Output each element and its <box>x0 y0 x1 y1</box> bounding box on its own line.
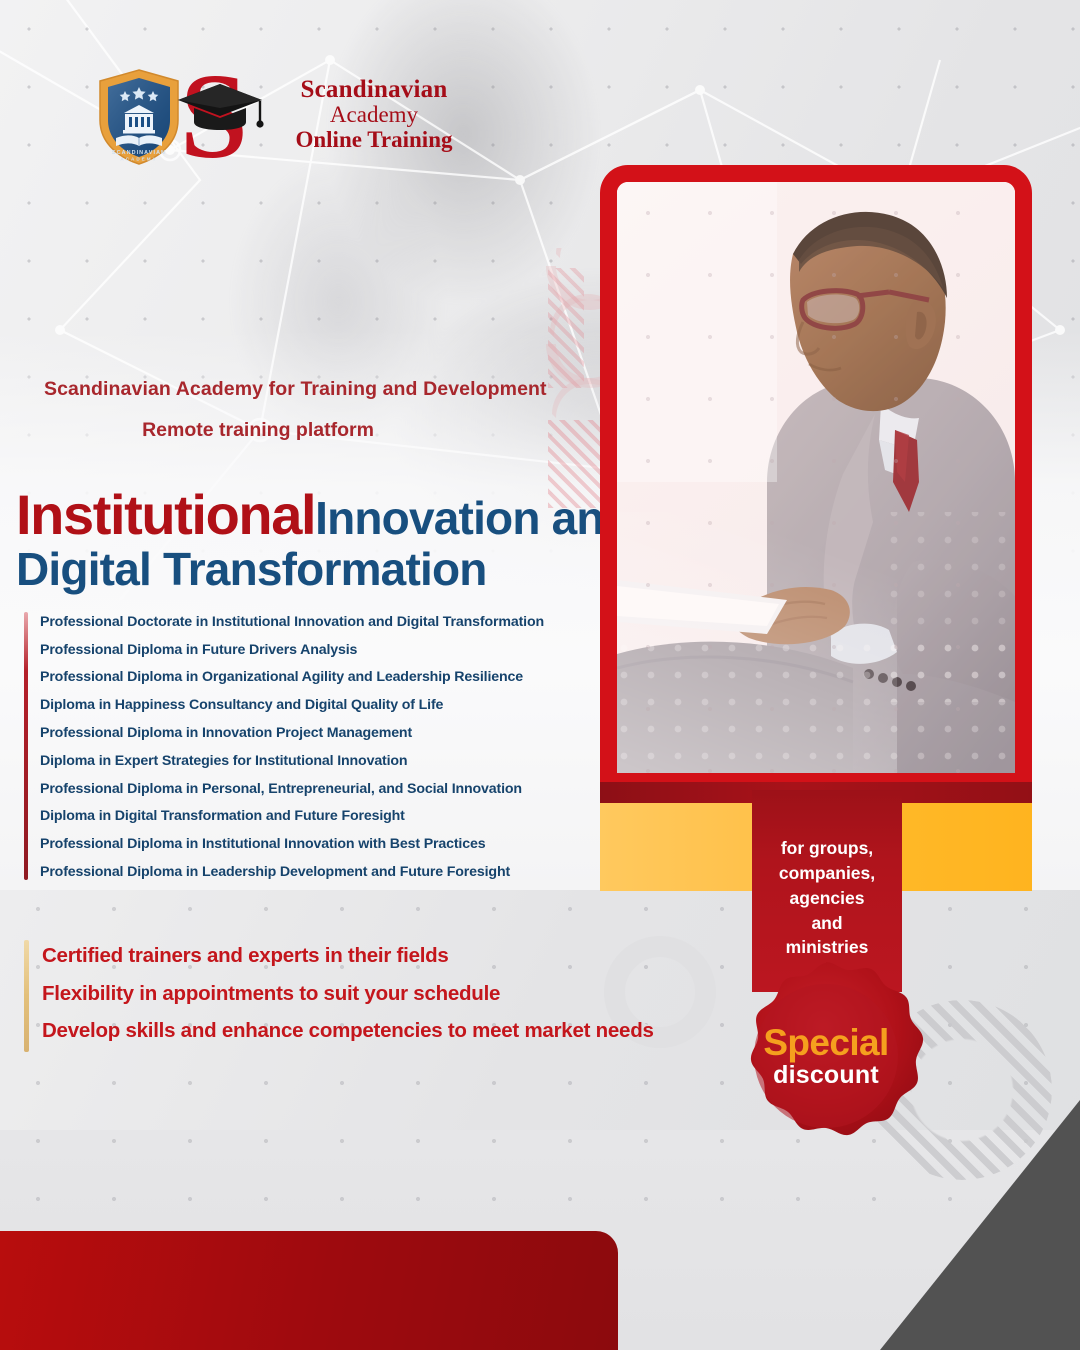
title-rest-line-1: Innovation and <box>315 492 631 544</box>
brand-line-1: Scandinavian <box>254 76 494 103</box>
badge-text-group: Special discount <box>712 958 940 1154</box>
brand-line-3: Online Training <box>254 128 494 153</box>
shield-bottom-label: ACADEMY <box>120 157 157 162</box>
list-item[interactable]: Diploma in Happiness Consultancy and Dig… <box>40 691 604 719</box>
audience-text: for groups, companies, agencies and mini… <box>752 836 902 960</box>
subtitle-line-2: Remote training platform <box>44 419 584 442</box>
list-item[interactable]: Professional Diploma in Organizational A… <box>40 664 604 692</box>
hero-photo-frame <box>600 165 1032 790</box>
special-discount-badge[interactable]: Special discount <box>712 958 940 1154</box>
list-item: Flexibility in appointments to suit your… <box>42 976 684 1014</box>
course-list: Professional Doctorate in Institutional … <box>24 608 604 886</box>
organization-subtitle: Scandinavian Academy for Training and De… <box>44 378 584 442</box>
badge-line-1: Special <box>763 1024 888 1061</box>
title-line-2: Digital Transformation <box>16 547 616 592</box>
list-item[interactable]: Professional Diploma in Leadership Devel… <box>40 858 604 886</box>
promotional-poster: SCANDINAVIAN ACADEMY S Scandinavian Acad… <box>0 0 1080 1350</box>
shield-emblem-icon: SCANDINAVIAN ACADEMY <box>96 68 182 166</box>
graduation-cap-icon <box>174 82 266 132</box>
list-item[interactable]: Professional Doctorate in Institutional … <box>40 608 604 636</box>
list-item: Develop skills and enhance competencies … <box>42 1013 684 1051</box>
list-item[interactable]: Professional Diploma in Innovation Proje… <box>40 719 604 747</box>
title-line-1: InstitutionalInnovation and <box>16 488 616 543</box>
brand-logo: SCANDINAVIAN ACADEMY S Scandinavian Acad… <box>96 46 416 166</box>
title-line-2-text: Digital Transformation <box>16 543 487 595</box>
orange-band-right <box>900 803 1032 891</box>
shield-top-label: SCANDINAVIAN <box>112 150 166 156</box>
brand-wordmark: Scandinavian Academy Online Training <box>254 76 494 153</box>
badge-line-2: discount <box>773 1063 879 1088</box>
list-item[interactable]: Professional Diploma in Personal, Entrep… <box>40 775 604 803</box>
list-item[interactable]: Professional Diploma in Institutional In… <box>40 830 604 858</box>
benefits-list: Certified trainers and experts in their … <box>24 938 684 1051</box>
orange-band-left <box>600 803 760 891</box>
subtitle-line-1: Scandinavian Academy for Training and De… <box>44 378 584 401</box>
list-item[interactable]: Diploma in Expert Strategies for Institu… <box>40 747 604 775</box>
bottom-red-banner <box>0 1231 618 1350</box>
page-title: InstitutionalInnovation and Digital Tran… <box>16 488 616 592</box>
list-item[interactable]: Diploma in Digital Transformation and Fu… <box>40 803 604 831</box>
list-item: Certified trainers and experts in their … <box>42 938 684 976</box>
hero-photo <box>617 182 1015 773</box>
list-item[interactable]: Professional Diploma in Future Drivers A… <box>40 636 604 664</box>
photo-dot-overlay <box>617 182 1015 773</box>
brand-line-2: Academy <box>254 103 494 128</box>
title-highlight: Institutional <box>16 483 315 546</box>
